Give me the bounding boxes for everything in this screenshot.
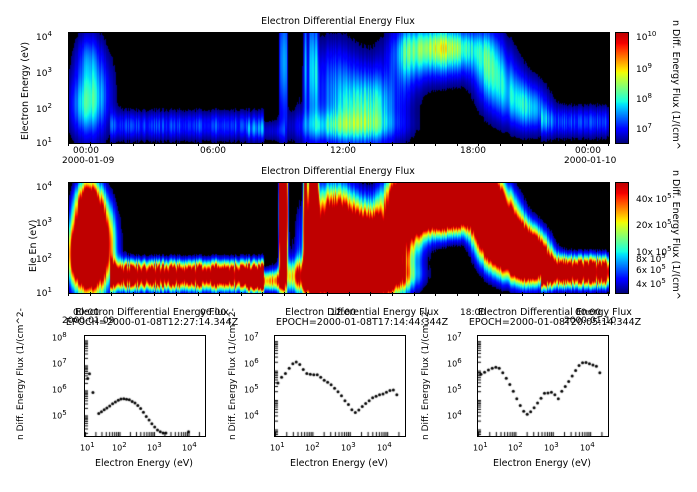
- panel1-cbtick-2-base: 10: [636, 95, 647, 105]
- spectrum-right-xtick-0-base: 10: [473, 444, 483, 453]
- panel1-xtick-2: 12:00: [330, 146, 356, 156]
- spectrum-middle-ytick-1-base: 10: [244, 360, 254, 369]
- axis-tick: [478, 142, 479, 146]
- axis-tick: [154, 142, 155, 146]
- spectrum-right-ytick-1: 106: [447, 357, 462, 369]
- axis-tick: [133, 142, 134, 146]
- axis-tick: [262, 292, 263, 296]
- spectrum-right-xtick-2: 103: [544, 441, 559, 453]
- panel2-ytick-2-exp: 2: [47, 252, 51, 260]
- axis-tick: [219, 142, 220, 146]
- panel1-ytick-2: 102: [36, 102, 52, 115]
- spectrum-right-ytick-1-base: 10: [447, 360, 457, 369]
- spectrum-right-xtick-1-base: 10: [508, 444, 518, 453]
- spectrum-middle-ytick-3: 104: [244, 409, 259, 421]
- spectrum-middle-ytick-2-exp: 5: [254, 383, 258, 391]
- axis-tick: [90, 292, 91, 296]
- spectrum-middle-xtick-3-base: 10: [377, 444, 387, 453]
- panel2-cbtick-3-exp: 5: [661, 252, 665, 260]
- axis-tick: [435, 292, 436, 296]
- spectrum-right-ytick-0-exp: 7: [457, 331, 461, 339]
- axis-tick: [198, 292, 199, 296]
- spectrum-right-xtick-2-base: 10: [544, 444, 554, 453]
- axis-tick: [543, 142, 544, 146]
- spectrum-middle-xtick-0-base: 10: [270, 444, 280, 453]
- axis-tick: [241, 142, 242, 146]
- spectrum-middle-xtick-2: 103: [341, 441, 356, 453]
- spectrum-left-ytick-1-base: 10: [52, 360, 62, 369]
- panel1-ytick-3-base: 10: [36, 139, 47, 149]
- panel1-ytick-3: 101: [36, 136, 52, 149]
- spectrum-left-xlabel: Electron Energy (eV): [74, 458, 214, 469]
- spectrum-middle-ytick-1-exp: 6: [254, 357, 258, 365]
- spectrum-middle-ytick-0-exp: 7: [254, 331, 258, 339]
- panel2-title: Electron Differential Energy Flux: [68, 166, 608, 177]
- axis-tick: [198, 142, 199, 146]
- panel1-cbtick-1-exp: 9: [647, 62, 651, 70]
- spectrum-middle-plot-area[interactable]: [274, 335, 406, 437]
- panel1-cbtick-3-base: 10: [636, 125, 647, 135]
- spectrum-middle-xtick-0-exp: 1: [280, 441, 284, 449]
- axis-tick: [500, 292, 501, 296]
- axis-tick: [90, 142, 91, 146]
- spectrum-left-xtick-3-exp: 4: [192, 441, 196, 449]
- axis-tick: [349, 292, 350, 296]
- axis-tick: [176, 142, 177, 146]
- spectrum-left-ytick-2: 106: [52, 383, 67, 395]
- axis-tick: [370, 292, 371, 296]
- panel1-colorbar-label: n Diff. Energy Flux (1/(cm^: [670, 20, 681, 150]
- panel1-ytick-1-exp: 3: [47, 66, 51, 74]
- panel1-xtick-4: 00:00: [575, 146, 601, 156]
- axis-tick: [327, 142, 328, 146]
- panel1-cbtick-1: 109: [636, 62, 652, 75]
- axis-tick: [68, 142, 69, 146]
- panel2-cbtick-4-exp: 5: [661, 263, 665, 271]
- spectrum-middle-xtick-1: 102: [305, 441, 320, 453]
- spectrum-middle-xtick-3: 104: [377, 441, 392, 453]
- spectrum-left-plot-area[interactable]: [84, 335, 206, 437]
- spectrum-middle-ytick-2-base: 10: [244, 386, 254, 395]
- spectrum-right-xtick-2-exp: 3: [554, 441, 558, 449]
- spectrum-right-ytick-0-base: 10: [447, 334, 457, 343]
- axis-tick: [176, 292, 177, 296]
- panel1-ytick-0-base: 10: [36, 33, 47, 43]
- spectrum-middle-xtick-1-base: 10: [305, 444, 315, 453]
- spectrum-middle-ytick-0: 107: [244, 331, 259, 343]
- spectrum-middle-xtick-2-exp: 3: [351, 441, 355, 449]
- spectrum-right-plot-area[interactable]: [477, 335, 609, 437]
- panel2-cbtick-4: 6x 105: [636, 263, 666, 276]
- spectrum-left-ytick-3: 105: [52, 409, 67, 421]
- panel1-ytick-0-exp: 4: [47, 30, 51, 38]
- panel2-cbtick-0: 40x 105: [636, 192, 672, 205]
- panel2-cbtick-5-exp: 5: [661, 277, 665, 285]
- panel2-ytick-3-exp: 1: [47, 286, 51, 294]
- spectrum-left-ytick-3-exp: 5: [62, 409, 66, 417]
- axis-tick: [565, 142, 566, 146]
- spectrum-right-xtick-0-exp: 1: [483, 441, 487, 449]
- panel2-colorbar-label: n Diff. Energy Flux (1/(cm^: [670, 170, 681, 300]
- panel1-cbtick-0-exp: 10: [647, 30, 656, 38]
- axis-tick: [68, 292, 69, 296]
- panel2-ytick-1-exp: 3: [47, 216, 51, 224]
- spectrum-left-ytick-3-base: 10: [52, 412, 62, 421]
- axis-tick: [327, 292, 328, 296]
- panel2-cbtick-0-base: 40x 10: [636, 195, 667, 205]
- spectrum-left-ytick-2-base: 10: [52, 386, 62, 395]
- spectrum-left-xtick-0-base: 10: [80, 444, 90, 453]
- spectrum-middle-ytick-3-base: 10: [244, 412, 254, 421]
- spectrum-left-xtick-3-base: 10: [182, 444, 192, 453]
- spectrum-right-ytick-2-base: 10: [447, 386, 457, 395]
- panel1-xtick-3: 18:00: [460, 146, 486, 156]
- spectrum-right-xtick-3-base: 10: [580, 444, 590, 453]
- spectrum-middle-xlabel: Electron Energy (eV): [269, 458, 409, 469]
- spectrum-left-xtick-3: 104: [182, 441, 197, 453]
- panel2-cbtick-5: 4x 105: [636, 277, 666, 290]
- axis-tick: [478, 292, 479, 296]
- panel1-cbtick-3-exp: 7: [647, 122, 651, 130]
- spectrum-right-ytick-3: 104: [447, 409, 462, 421]
- axis-tick: [392, 292, 393, 296]
- panel2-cbtick-4-base: 6x 10: [636, 266, 661, 276]
- spectrum-right-ytick-2-exp: 5: [457, 383, 461, 391]
- axis-tick: [543, 292, 544, 296]
- panel1-ytick-2-exp: 2: [47, 102, 51, 110]
- spectrum-left-epoch: EPOCH=2000-01-08T12:27:14.344Z: [52, 317, 252, 328]
- axis-tick: [586, 292, 587, 296]
- spectrum-left-xtick-0: 101: [80, 441, 95, 453]
- spectrum-left-xtick-1: 102: [112, 441, 127, 453]
- axis-tick: [241, 292, 242, 296]
- panel1-ytick-0: 104: [36, 30, 52, 43]
- panel1-title: Electron Differential Energy Flux: [68, 16, 608, 27]
- panel2-ytick-3: 101: [36, 286, 52, 299]
- panel2-ytick-1: 103: [36, 216, 52, 229]
- panel2-plot-area[interactable]: [68, 182, 610, 294]
- spectrum-right-ylabel: n Diff. Energy Flux (1/(cm^2-: [421, 308, 431, 440]
- axis-tick: [586, 142, 587, 146]
- spectrum-right-xtick-3-exp: 4: [590, 441, 594, 449]
- panel1-ytick-2-base: 10: [36, 105, 47, 115]
- axis-tick: [262, 142, 263, 146]
- axis-tick: [111, 142, 112, 146]
- spectrum-right-ytick-3-base: 10: [447, 412, 457, 421]
- spectrum-middle-xtick-3-exp: 4: [387, 441, 391, 449]
- axis-tick: [457, 142, 458, 146]
- spectrum-middle-ytick-2: 105: [244, 383, 259, 395]
- panel1-cbtick-0-base: 10: [636, 33, 647, 43]
- spectrum-right-xtick-1: 102: [508, 441, 523, 453]
- panel2-ytick-0-exp: 4: [47, 180, 51, 188]
- spectrum-right-xtick-1-exp: 2: [518, 441, 522, 449]
- panel2-ytick-2: 102: [36, 252, 52, 265]
- spectrum-left-ytick-1: 107: [52, 357, 67, 369]
- panel2-cbtick-1: 20x 105: [636, 218, 672, 231]
- panel1-xtick-1: 06:00: [200, 146, 226, 156]
- panel1-cbtick-2: 108: [636, 92, 652, 105]
- spectrum-right-xtick-3: 104: [580, 441, 595, 453]
- panel2-ytick-1-base: 10: [36, 219, 47, 229]
- panel1-cbtick-0: 1010: [636, 30, 656, 43]
- panel2-ytick-3-base: 10: [36, 289, 47, 299]
- spectrum-middle-ytick-3-exp: 4: [254, 409, 258, 417]
- spectrum-middle-xtick-2-base: 10: [341, 444, 351, 453]
- spectrum-left-xtick-2-base: 10: [147, 444, 157, 453]
- axis-tick: [608, 142, 609, 146]
- spectrum-left-ytick-0-base: 10: [52, 334, 62, 343]
- spectrum-left-xtick-0-exp: 1: [90, 441, 94, 449]
- axis-tick: [414, 292, 415, 296]
- panel1-colorbar[interactable]: [615, 32, 629, 144]
- axis-tick: [284, 292, 285, 296]
- axis-tick: [219, 292, 220, 296]
- spectrum-left-ylabel: n Diff. Energy Flux (1/(cm^2-: [16, 308, 26, 440]
- spectrum-middle-xtick-0: 101: [270, 441, 285, 453]
- spectrum-left-ytick-2-exp: 6: [62, 383, 66, 391]
- axis-tick: [414, 142, 415, 146]
- axis-tick: [608, 292, 609, 296]
- spectrum-middle-epoch: EPOCH=2000-01-08T17:14:44.344Z: [262, 317, 462, 328]
- panel1-xdate-left: 2000-01-09: [62, 156, 114, 166]
- panel1-plot-area[interactable]: [68, 32, 610, 144]
- axis-tick: [392, 142, 393, 146]
- spectrum-right-xlabel: Electron Energy (eV): [472, 458, 612, 469]
- axis-tick: [522, 142, 523, 146]
- panel1-ytick-1-base: 10: [36, 69, 47, 79]
- spectrum-right-ytick-3-exp: 4: [457, 409, 461, 417]
- spectrum-left-ytick-0: 108: [52, 331, 67, 343]
- spectrum-right-ytick-0: 107: [447, 331, 462, 343]
- spectrum-middle-ytick-1: 106: [244, 357, 259, 369]
- spectrum-right-epoch: EPOCH=2000-01-08T20:05:14.344Z: [455, 317, 655, 328]
- spectrum-middle-ylabel: n Diff. Energy Flux (1/(cm^2-: [228, 308, 238, 440]
- axis-tick: [500, 142, 501, 146]
- spectrum-left-ytick-0-exp: 8: [62, 331, 66, 339]
- axis-tick: [565, 292, 566, 296]
- panel1-xdate-right: 2000-01-10: [564, 156, 616, 166]
- panel1-ylabel: Electron Energy (eV): [20, 42, 31, 140]
- panel2-ytick-0-base: 10: [36, 183, 47, 193]
- panel1-cbtick-2-exp: 8: [647, 92, 651, 100]
- panel1-ytick-3-exp: 1: [47, 136, 51, 144]
- spectrum-right-ytick-2: 105: [447, 383, 462, 395]
- panel2-ytick-2-base: 10: [36, 255, 47, 265]
- spectrum-left-ytick-1-exp: 7: [62, 357, 66, 365]
- panel1-ytick-1: 103: [36, 66, 52, 79]
- panel1-cbtick-1-base: 10: [636, 65, 647, 75]
- axis-tick: [435, 142, 436, 146]
- axis-tick: [457, 292, 458, 296]
- axis-tick: [349, 142, 350, 146]
- spectrum-right-ytick-1-exp: 6: [457, 357, 461, 365]
- axis-tick: [370, 142, 371, 146]
- axis-tick: [133, 292, 134, 296]
- axis-tick: [522, 292, 523, 296]
- spectrum-middle-xtick-1-exp: 2: [315, 441, 319, 449]
- axis-tick: [306, 142, 307, 146]
- spectrum-left-xtick-2-exp: 3: [157, 441, 161, 449]
- panel1-cbtick-3: 107: [636, 122, 652, 135]
- axis-tick: [306, 292, 307, 296]
- panel2-ytick-0: 104: [36, 180, 52, 193]
- panel1-xtick-0: 00:00: [73, 146, 99, 156]
- spectrum-left-xtick-1-base: 10: [112, 444, 122, 453]
- panel2-cbtick-1-base: 20x 10: [636, 221, 667, 231]
- axis-tick: [154, 292, 155, 296]
- spectrum-middle-ytick-0-base: 10: [244, 334, 254, 343]
- spectrum-left-xtick-2: 103: [147, 441, 162, 453]
- spectrum-left-xtick-1-exp: 2: [122, 441, 126, 449]
- panel2-colorbar[interactable]: [615, 182, 629, 294]
- axis-tick: [111, 292, 112, 296]
- panel2-cbtick-5-base: 4x 10: [636, 280, 661, 290]
- spectrum-right-xtick-0: 101: [473, 441, 488, 453]
- axis-tick: [284, 142, 285, 146]
